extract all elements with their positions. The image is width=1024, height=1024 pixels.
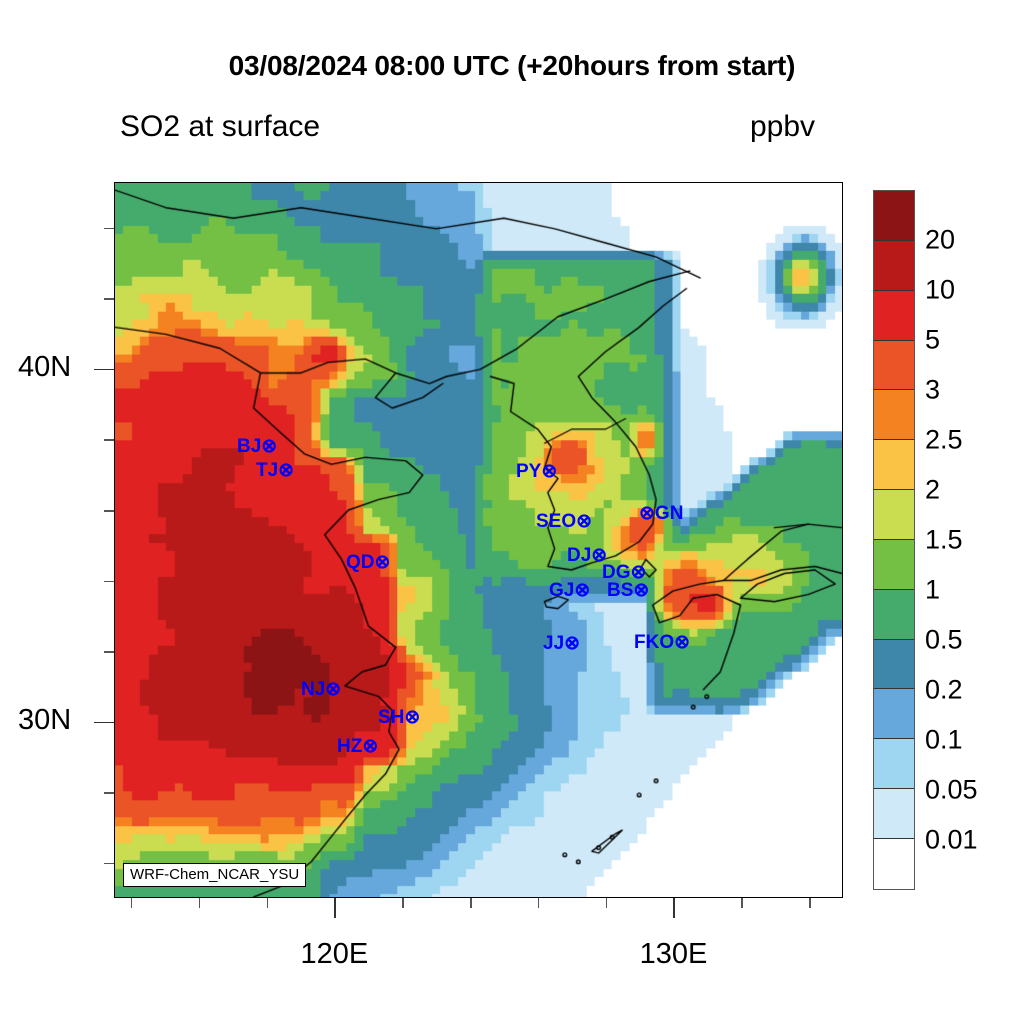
colorbar-tick-label: 0.1: [925, 725, 963, 756]
y-axis-tick: [104, 581, 114, 583]
colorbar[interactable]: [873, 190, 915, 890]
colorbar-tick-label: 0.01: [925, 825, 978, 856]
x-axis-tick: [402, 898, 404, 908]
y-axis-tick: [104, 439, 114, 441]
model-attribution-box: WRF-Chem_NCAR_YSU: [123, 863, 306, 887]
colorbar-band: [874, 341, 914, 391]
colorbar-tick-label: 0.05: [925, 775, 978, 806]
colorbar-tick-label: 10: [925, 275, 955, 306]
colorbar-band: [874, 390, 914, 440]
y-axis-tick: [104, 228, 114, 230]
x-axis-tick: [131, 898, 133, 908]
x-axis-tick: [809, 898, 811, 908]
y-axis-label: 40N: [18, 351, 71, 384]
x-axis-tick: [199, 898, 201, 908]
colorbar-band: [874, 839, 914, 889]
x-axis-tick: [538, 898, 540, 908]
colorbar-band: [874, 739, 914, 789]
x-axis-tick: [673, 898, 675, 918]
x-axis-tick: [334, 898, 336, 918]
colorbar-tick-label: 2: [925, 475, 940, 506]
y-axis-tick: [94, 722, 114, 724]
colorbar-tick-label: 2.5: [925, 425, 963, 456]
colorbar-band: [874, 789, 914, 839]
map-plot-area[interactable]: BJ⊗TJ⊗QD⊗NJ⊗SH⊗HZ⊗PY⊗SEO⊗DJ⊗DG⊗GJ⊗BS⊗JJ⊗…: [114, 182, 843, 898]
units-label: ppbv: [750, 110, 815, 144]
x-axis-label: 130E: [628, 938, 718, 971]
y-axis-tick: [104, 792, 114, 794]
x-axis-label: 120E: [289, 938, 379, 971]
colorbar-tick-label: 5: [925, 325, 940, 356]
colorbar-band: [874, 590, 914, 640]
colorbar-band: [874, 689, 914, 739]
x-axis-tick: [741, 898, 743, 908]
x-axis-tick: [267, 898, 269, 908]
y-axis-tick: [104, 863, 114, 865]
colorbar-band: [874, 241, 914, 291]
colorbar-tick-label: 0.5: [925, 625, 963, 656]
y-axis-tick: [104, 651, 114, 653]
so2-concentration-raster: [115, 183, 842, 897]
page-title: 03/08/2024 08:00 UTC (+20hours from star…: [0, 50, 1024, 82]
colorbar-tick-label: 3: [925, 375, 940, 406]
colorbar-tick-label: 1: [925, 575, 940, 606]
y-axis-label: 30N: [18, 704, 71, 737]
variable-label: SO2 at surface: [120, 110, 320, 144]
colorbar-band: [874, 191, 914, 241]
colorbar-band: [874, 490, 914, 540]
colorbar-tick-label: 0.2: [925, 675, 963, 706]
colorbar-band: [874, 291, 914, 341]
colorbar-band: [874, 540, 914, 590]
y-axis-tick: [104, 298, 114, 300]
y-axis-tick: [104, 510, 114, 512]
x-axis-tick: [470, 898, 472, 908]
colorbar-band: [874, 640, 914, 690]
x-axis-tick: [606, 898, 608, 908]
y-axis-tick: [94, 369, 114, 371]
colorbar-band: [874, 440, 914, 490]
colorbar-tick-label: 1.5: [925, 525, 963, 556]
colorbar-tick-label: 20: [925, 225, 955, 256]
